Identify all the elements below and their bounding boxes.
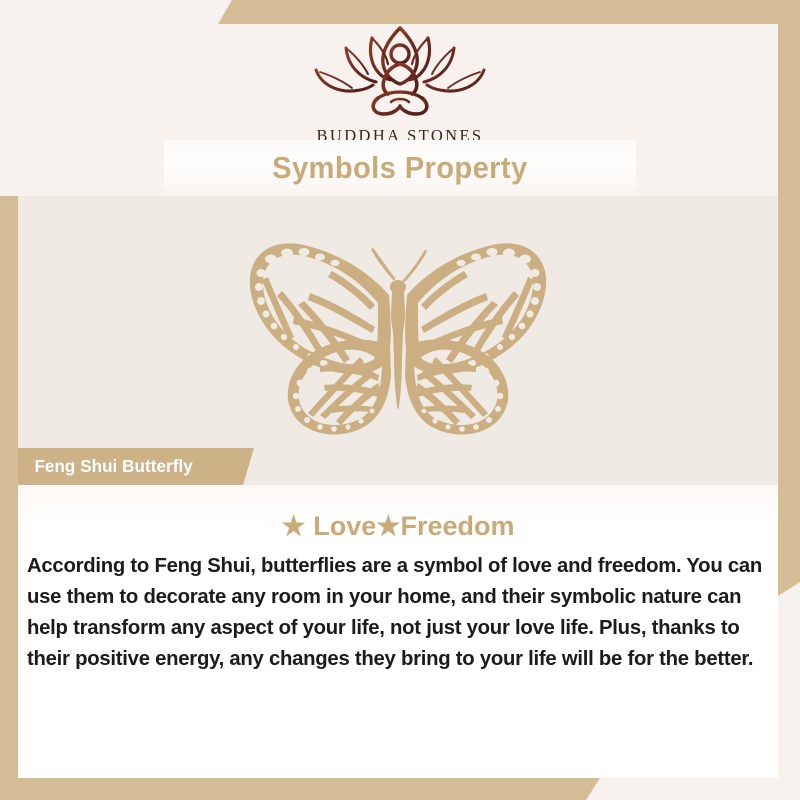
brand-logo: BUDDHA STONES <box>306 22 494 146</box>
lotus-meditation-icon <box>306 22 494 123</box>
tagline: ★ Love★Freedom <box>18 511 778 542</box>
decor-band-left <box>0 196 18 800</box>
title-band: Symbols Property <box>164 140 636 196</box>
page-title: Symbols Property <box>272 150 527 186</box>
decor-band-right <box>778 0 800 596</box>
section-banner: Feng Shui Butterfly <box>18 448 254 485</box>
description-paragraph: According to Feng Shui, butterflies are … <box>27 551 770 675</box>
description-panel: ★ Love★Freedom According to Feng Shui, b… <box>18 485 778 778</box>
decor-band-top <box>218 0 800 24</box>
section-banner-label: Feng Shui Butterfly <box>34 456 192 477</box>
illustration-panel <box>18 196 778 485</box>
decor-band-bottom <box>0 778 600 800</box>
butterfly-icon <box>228 231 568 450</box>
